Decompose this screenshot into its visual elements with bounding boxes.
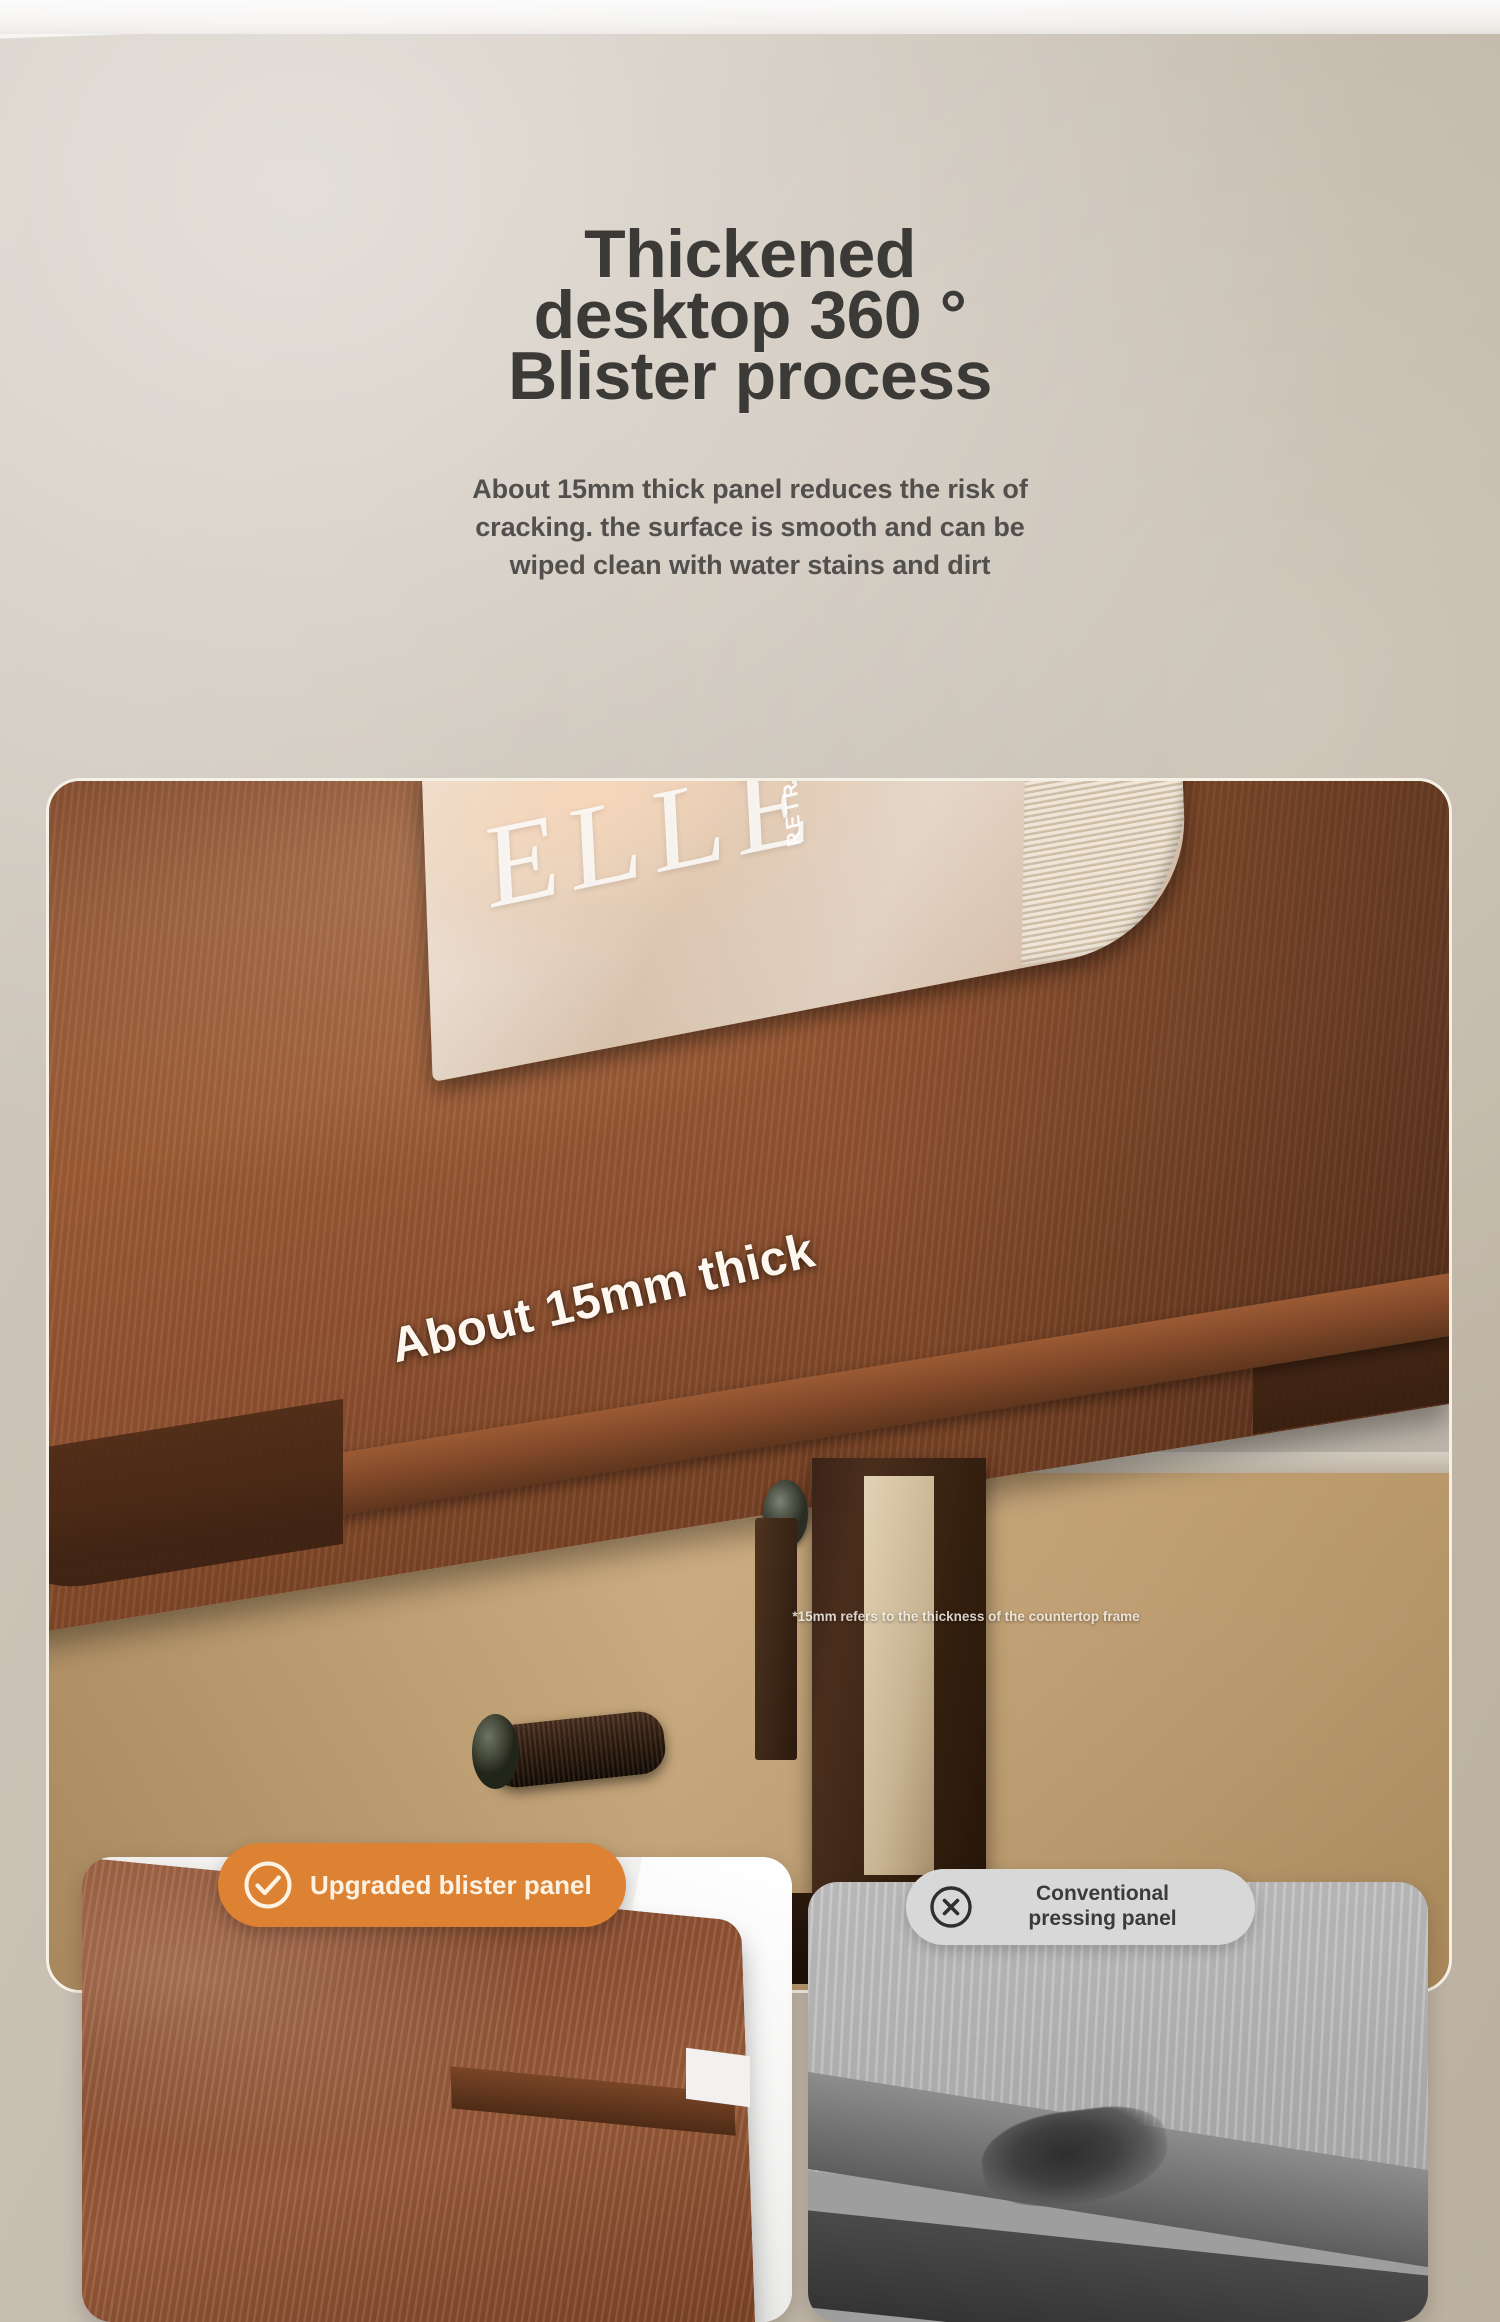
- page-title-line-1: Thickened: [0, 224, 1500, 285]
- magazine-title: ELLE: [483, 778, 821, 919]
- thickness-footnote: *15mm refers to the thickness of the cou…: [735, 1609, 1197, 1626]
- blister-panel-notch: [686, 2048, 750, 2108]
- hero-scene: ELLE RETRO About 15mm thick *15mm refers…: [49, 781, 1449, 1990]
- magazine-pages: [1022, 778, 1189, 964]
- magazine-kicker: RETRO: [778, 778, 807, 849]
- crank-arm: [755, 1518, 797, 1760]
- table-leg-inner-column: [864, 1476, 934, 1875]
- badge-upgraded-blister-panel[interactable]: Upgraded blister panel: [218, 1843, 626, 1927]
- page-subtitle: About 15mm thick panel reduces the risk …: [0, 470, 1500, 585]
- page-title-line-2: desktop 360 °: [0, 285, 1500, 346]
- badge-conventional-pressing-panel[interactable]: Conventional pressing panel: [906, 1869, 1255, 1945]
- top-white-strip: [0, 0, 1500, 34]
- page-title: Thickened desktop 360 ° Blister process: [0, 224, 1500, 408]
- header-block: Thickened desktop 360 ° Blister process …: [0, 224, 1500, 585]
- hero-product-photo: ELLE RETRO About 15mm thick *15mm refers…: [46, 778, 1452, 1993]
- badge-conventional-label: Conventional pressing panel: [990, 1882, 1215, 1932]
- check-circle-icon: [242, 1859, 294, 1911]
- page-subtitle-line-3: wiped clean with water stains and dirt: [0, 546, 1500, 584]
- page-subtitle-line-2: cracking. the surface is smooth and can …: [0, 508, 1500, 546]
- page-subtitle-line-1: About 15mm thick panel reduces the risk …: [0, 470, 1500, 508]
- x-circle-icon: [928, 1884, 974, 1930]
- page-title-line-3: Blister process: [0, 346, 1500, 407]
- comparison-panel-conventional: [808, 1882, 1428, 2322]
- badge-upgraded-label: Upgraded blister panel: [310, 1870, 592, 1901]
